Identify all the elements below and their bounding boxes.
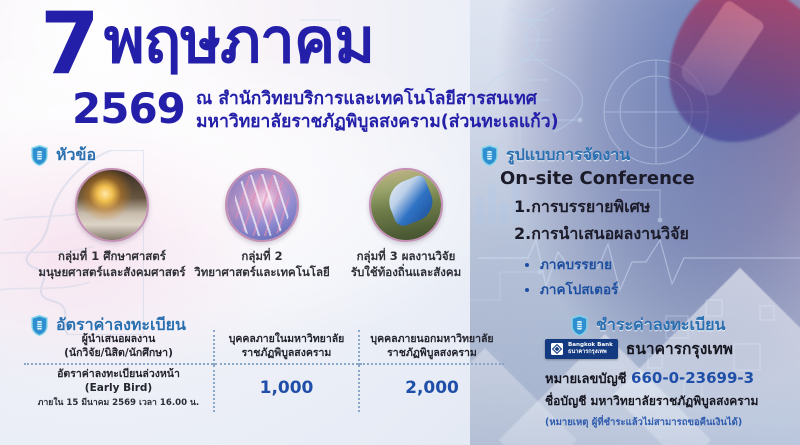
topics-list: กลุ่มที่ 1 ศึกษาศาสตร์ มนุษยศาสตร์และสัง… [36, 168, 496, 298]
event-date: 7 พฤษภาคม [40, 8, 374, 80]
format-item-2: 2.การนำเสนอผลงานวิจัย [514, 222, 790, 247]
col-header-presenter: ผู้นำเสนอผลงาน (นักวิจัย/นิสิต/นักศึกษา) [24, 330, 214, 364]
topic-3-caption-line1: กลุ่มที่ 3 ผลงานวิจัย [330, 249, 482, 265]
event-month: พฤษภาคม [104, 12, 374, 69]
open-book-glowing-icon [77, 170, 147, 240]
bank-logo-line1: Bangkok Bank [568, 342, 613, 348]
topic-1-caption: กลุ่มที่ 1 ศึกษาศาสตร์ มนุษยศาสตร์และสัง… [36, 249, 188, 280]
format-bullet-2: ภาคโปสเตอร์ [540, 278, 790, 300]
topic-item-2[interactable]: กลุ่มที่ 2 วิทยาศาสตร์และเทคโนโลยี [186, 168, 338, 280]
dna-helix-icon [227, 170, 297, 240]
fee-amount-external: 2,000 [359, 364, 504, 411]
bank-logo-text: Bangkok Bank ธนาคารกรุงเทพ [568, 342, 613, 355]
conference-poster: 7 พฤษภาคม 2569 ณ สำนักวิทยบริการและเทคโน… [0, 0, 800, 445]
format-heading-label: รูปแบบการจัดงาน [506, 143, 630, 168]
fee-row-label-line2: (Early Bird) [28, 382, 209, 396]
account-name-label: ชื่อบัญชี [545, 394, 586, 408]
shield-book-icon [570, 314, 589, 337]
topic-2-image [225, 168, 299, 242]
payment-panel: Bangkok Bank ธนาคารกรุงเทพ ธนาคารกรุงเทพ… [545, 336, 795, 430]
table-header-row: ผู้นำเสนอผลงาน (นักวิจัย/นิสิต/นักศึกษา)… [24, 330, 504, 364]
fee-row-label-line1: อัตราค่าลงทะเบียนล่วงหน้า [28, 368, 209, 382]
payment-section-heading: ชำระค่าลงทะเบียน [570, 313, 725, 338]
payment-note: (หมายเหตุ ผู้ที่ชำระแล้วไม่สามารถขอคืนเง… [545, 415, 795, 430]
account-name-value: มหาวิทยาลัยราชภัฏพิบูลสงคราม [591, 394, 759, 408]
format-bullet-list: ภาคบรรยาย ภาคโปสเตอร์ [540, 253, 790, 300]
col-header-presenter-line2: (นักวิจัย/นิสิต/นักศึกษา) [28, 347, 209, 361]
bangkok-bank-logo: Bangkok Bank ธนาคารกรุงเทพ [545, 339, 618, 359]
col-header-external-line1: บุคคลภายนอกมหาวิทยาลัย [364, 333, 500, 347]
bangkok-bank-diamond-icon [550, 342, 564, 356]
topic-1-caption-line2: มนุษยศาสตร์และสังคมศาสตร์ [36, 265, 188, 281]
bank-name-label: ธนาคารกรุงเทพ [626, 336, 733, 361]
col-header-presenter-line1: ผู้นำเสนอผลงาน [28, 333, 209, 347]
shield-book-icon [30, 144, 49, 167]
col-header-external-line2: ราชภัฏพิบูลสงคราม [364, 347, 500, 361]
col-header-internal-line2: ราชภัฏพิบูลสงคราม [219, 347, 354, 361]
topic-1-image [75, 168, 149, 242]
fee-table-wrapper: ผู้นำเสนอผลงาน (นักวิจัย/นิสิต/นักศึกษา)… [24, 330, 504, 412]
table-row: อัตราค่าลงทะเบียนล่วงหน้า (Early Bird) ภ… [24, 364, 504, 411]
account-number-value: 660-0-23699-3 [631, 369, 754, 387]
topic-3-caption: กลุ่มที่ 3 ผลงานวิจัย รับใช้ท้องถิ่นและส… [330, 249, 482, 280]
format-bullet-1-label: ภาคบรรยาย [540, 257, 612, 273]
format-bullet-2-label: ภาคโปสเตอร์ [540, 282, 618, 298]
topics-heading-label: หัวข้อ [56, 143, 96, 168]
poster-header: 7 พฤษภาคม 2569 ณ สำนักวิทยบริการและเทคโน… [0, 6, 800, 134]
topic-1-caption-line1: กลุ่มที่ 1 ศึกษาศาสตร์ [36, 249, 188, 265]
account-number-label: หมายเลขบัญชี [545, 372, 627, 387]
topic-item-1[interactable]: กลุ่มที่ 1 ศึกษาศาสตร์ มนุษยศาสตร์และสัง… [36, 168, 188, 280]
format-item-1: 1.การบรรยายพิเศษ [514, 195, 790, 220]
event-venue: ณ สำนักวิทยบริการและเทคโนโลยีสารสนเทศ มห… [196, 88, 666, 134]
col-header-external: บุคคลภายนอกมหาวิทยาลัย ราชภัฏพิบูลสงคราม [359, 330, 504, 364]
format-bullet-1: ภาคบรรยาย [540, 253, 790, 275]
gloved-hands-planting-icon [371, 170, 441, 240]
bank-row: Bangkok Bank ธนาคารกรุงเทพ ธนาคารกรุงเทพ [545, 336, 795, 361]
shield-book-icon [480, 144, 499, 167]
account-number-row: หมายเลขบัญชี 660-0-23699-3 [545, 368, 795, 389]
fee-row-label: อัตราค่าลงทะเบียนล่วงหน้า (Early Bird) ภ… [24, 364, 214, 411]
format-title: On-site Conference [500, 168, 790, 189]
topic-item-3[interactable]: กลุ่มที่ 3 ผลงานวิจัย รับใช้ท้องถิ่นและส… [330, 168, 482, 280]
col-header-internal: บุคคลภายในมหาวิทยาลัย ราชภัฏพิบูลสงคราม [214, 330, 359, 364]
bank-logo-line2: ธนาคารกรุงเทพ [568, 349, 613, 355]
account-name-row: ชื่อบัญชี มหาวิทยาลัยราชภัฏพิบูลสงคราม [545, 392, 795, 411]
topics-section-heading: หัวข้อ [30, 143, 96, 168]
fee-amount-internal: 1,000 [214, 364, 359, 411]
event-year: 2569 [72, 84, 185, 133]
col-header-internal-line1: บุคคลภายในมหาวิทยาลัย [219, 333, 354, 347]
format-section-heading: รูปแบบการจัดงาน [480, 143, 630, 168]
venue-line-2: มหาวิทยาลัยราชภัฏพิบูลสงคราม(ส่วนทะเลแก้… [196, 111, 666, 134]
topic-3-image [369, 168, 443, 242]
topic-3-caption-line2: รับใช้ท้องถิ่นและสังคม [330, 265, 482, 281]
payment-heading-label: ชำระค่าลงทะเบียน [596, 313, 725, 338]
event-day: 7 [40, 8, 98, 80]
topic-2-caption: กลุ่มที่ 2 วิทยาศาสตร์และเทคโนโลยี [186, 249, 338, 280]
venue-line-1: ณ สำนักวิทยบริการและเทคโนโลยีสารสนเทศ [196, 88, 666, 111]
topic-2-caption-line2: วิทยาศาสตร์และเทคโนโลยี [186, 265, 338, 281]
format-panel: On-site Conference 1.การบรรยายพิเศษ 2.กา… [500, 168, 790, 303]
topic-2-caption-line1: กลุ่มที่ 2 [186, 249, 338, 265]
fee-row-label-deadline: ภายใน 15 มีนาคม 2569 เวลา 16.00 น. [28, 398, 209, 409]
registration-fee-table: ผู้นำเสนอผลงาน (นักวิจัย/นิสิต/นักศึกษา)… [24, 330, 504, 412]
